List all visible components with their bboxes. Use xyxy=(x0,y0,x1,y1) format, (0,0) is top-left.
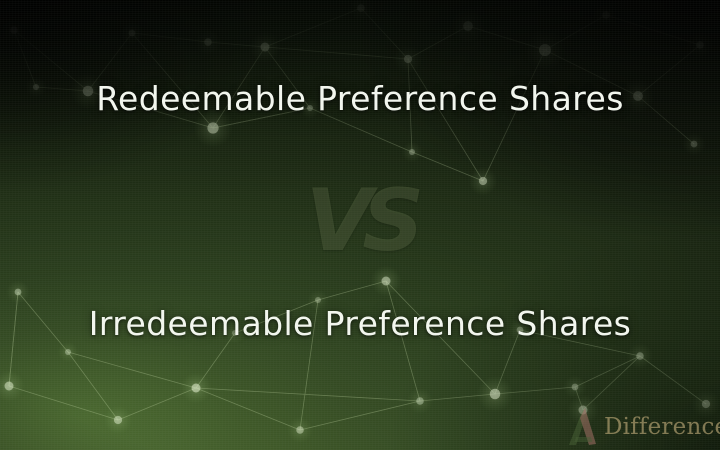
a-chevron-logo-icon xyxy=(562,406,606,448)
brand-name: Difference xyxy=(604,414,720,440)
comparison-title-card: VS Redeemable Preference Shares Irredeem… xyxy=(0,0,720,450)
brand-watermark: Difference xyxy=(562,404,720,450)
bottom-title: Irredeemable Preference Shares xyxy=(0,306,720,342)
versus-watermark: VS xyxy=(0,178,720,264)
top-title: Redeemable Preference Shares xyxy=(0,81,720,117)
